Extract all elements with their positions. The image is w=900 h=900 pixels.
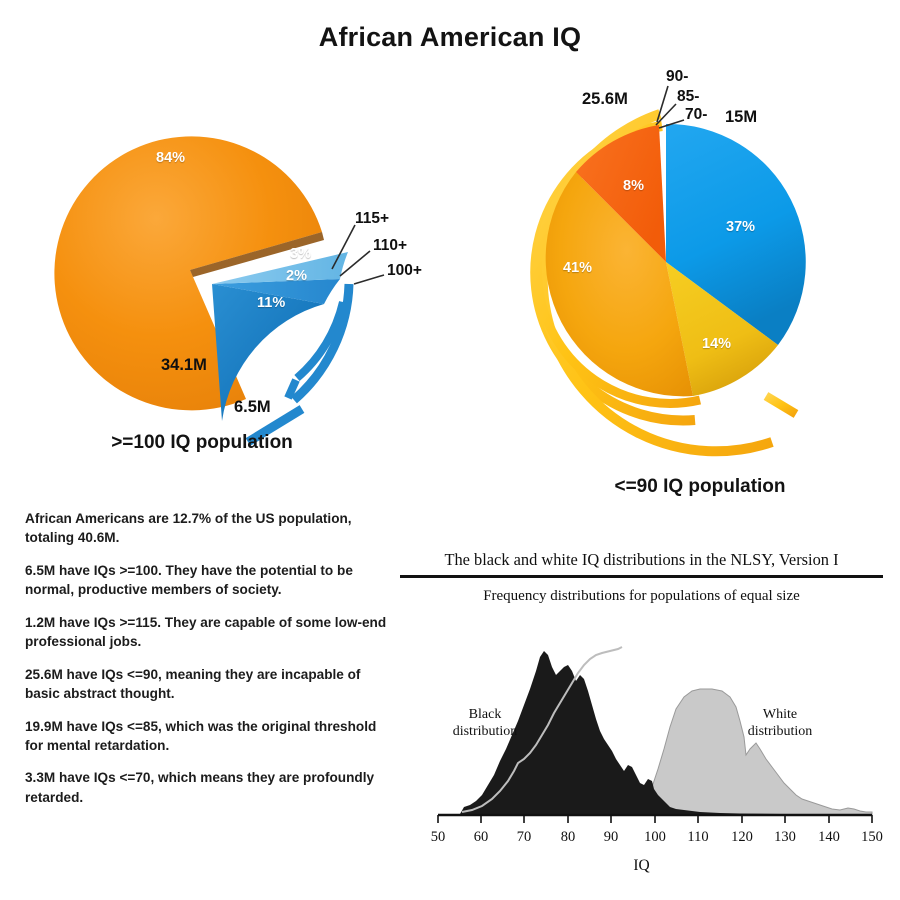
tick-label: 60 — [474, 829, 489, 845]
facts-text-block: African Americans are 12.7% of the US po… — [25, 509, 390, 820]
slice-pct-label-37: 37% — [726, 219, 755, 235]
callout-85-minus: 85- — [677, 88, 699, 106]
nlsy-plot-area: 50 60 70 80 90 100 110 120 130 140 150 B… — [400, 609, 883, 859]
tick-label: 140 — [818, 829, 840, 845]
tick-label: 130 — [774, 829, 796, 845]
tick-label: 70 — [517, 829, 532, 845]
callout-90-minus: 90- — [666, 68, 688, 86]
pie-chart-over-100-iq-caption: >=100 IQ population — [0, 432, 412, 454]
slice-pct-label-11: 11% — [257, 295, 285, 311]
annotation-25-6m: 25.6M — [582, 90, 628, 109]
pie-chart-under-90-iq-caption: <=90 IQ population — [490, 476, 900, 498]
nlsy-figure-subtitle: Frequency distributions for populations … — [400, 588, 883, 605]
fact-paragraph: 25.6M have IQs <=90, meaning they are in… — [25, 665, 390, 704]
fact-paragraph: 3.3M have IQs <=70, which means they are… — [25, 768, 390, 807]
nlsy-title-rule — [400, 575, 883, 578]
callout-115-plus: 115+ — [355, 210, 389, 228]
fact-paragraph: African Americans are 12.7% of the US po… — [25, 509, 390, 548]
pie-chart-under-90-iq: 37% 14% 41% 8% 90- 85- 70- 25.6M 15M <=9… — [480, 62, 900, 502]
callout-70-minus: 70- — [685, 106, 707, 124]
annotation-34-1m: 34.1M — [161, 356, 207, 375]
pie-chart-over-100-iq: 84% 11% 2% 3% 115+ 110+ 100+ 34.1M 6.5M … — [40, 62, 460, 462]
fact-paragraph: 19.9M have IQs <=85, which was the origi… — [25, 717, 390, 756]
white-distribution-label: White distribution — [730, 707, 830, 740]
black-distribution-label: Black distribution — [435, 707, 535, 740]
callout-100-plus: 100+ — [387, 262, 422, 280]
annotation-15m: 15M — [725, 108, 757, 127]
black-distribution-label-line1: Black — [469, 707, 502, 722]
nlsy-x-tick-labels: 50 60 70 80 90 100 110 120 130 140 150 — [431, 829, 883, 845]
tick-label: 80 — [561, 829, 576, 845]
nlsy-figure-title: The black and white IQ distributions in … — [400, 548, 883, 574]
tick-label: 90 — [604, 829, 619, 845]
fact-paragraph: 1.2M have IQs >=115. They are capable of… — [25, 613, 390, 652]
tick-label: 150 — [861, 829, 883, 845]
annotation-6-5m: 6.5M — [234, 398, 271, 417]
slice-pct-label-41: 41% — [563, 260, 592, 276]
tick-label: 120 — [731, 829, 753, 845]
nlsy-distribution-figure: The black and white IQ distributions in … — [400, 548, 883, 888]
nlsy-x-ticks — [438, 815, 872, 823]
slice-pct-label-84: 84% — [156, 150, 185, 166]
fact-paragraph: 6.5M have IQs >=100. They have the poten… — [25, 561, 390, 600]
tick-label: 100 — [644, 829, 666, 845]
slice-pct-label-8: 8% — [623, 178, 644, 194]
callout-110-plus: 110+ — [373, 237, 407, 255]
slice-pct-label-14: 14% — [702, 336, 731, 352]
white-distribution-label-line1: White — [763, 707, 797, 722]
tick-label: 50 — [431, 829, 446, 845]
pie-chart-under-90-iq-svg — [480, 62, 900, 502]
slice-pct-label-3: 3% — [290, 246, 311, 262]
tick-label: 110 — [687, 829, 708, 845]
black-distribution-label-line2: distribution — [453, 724, 518, 739]
white-distribution-label-line2: distribution — [748, 724, 813, 739]
page-title: African American IQ — [0, 22, 900, 53]
nlsy-x-axis-title: IQ — [400, 857, 883, 875]
slice-pct-label-2: 2% — [286, 268, 307, 284]
